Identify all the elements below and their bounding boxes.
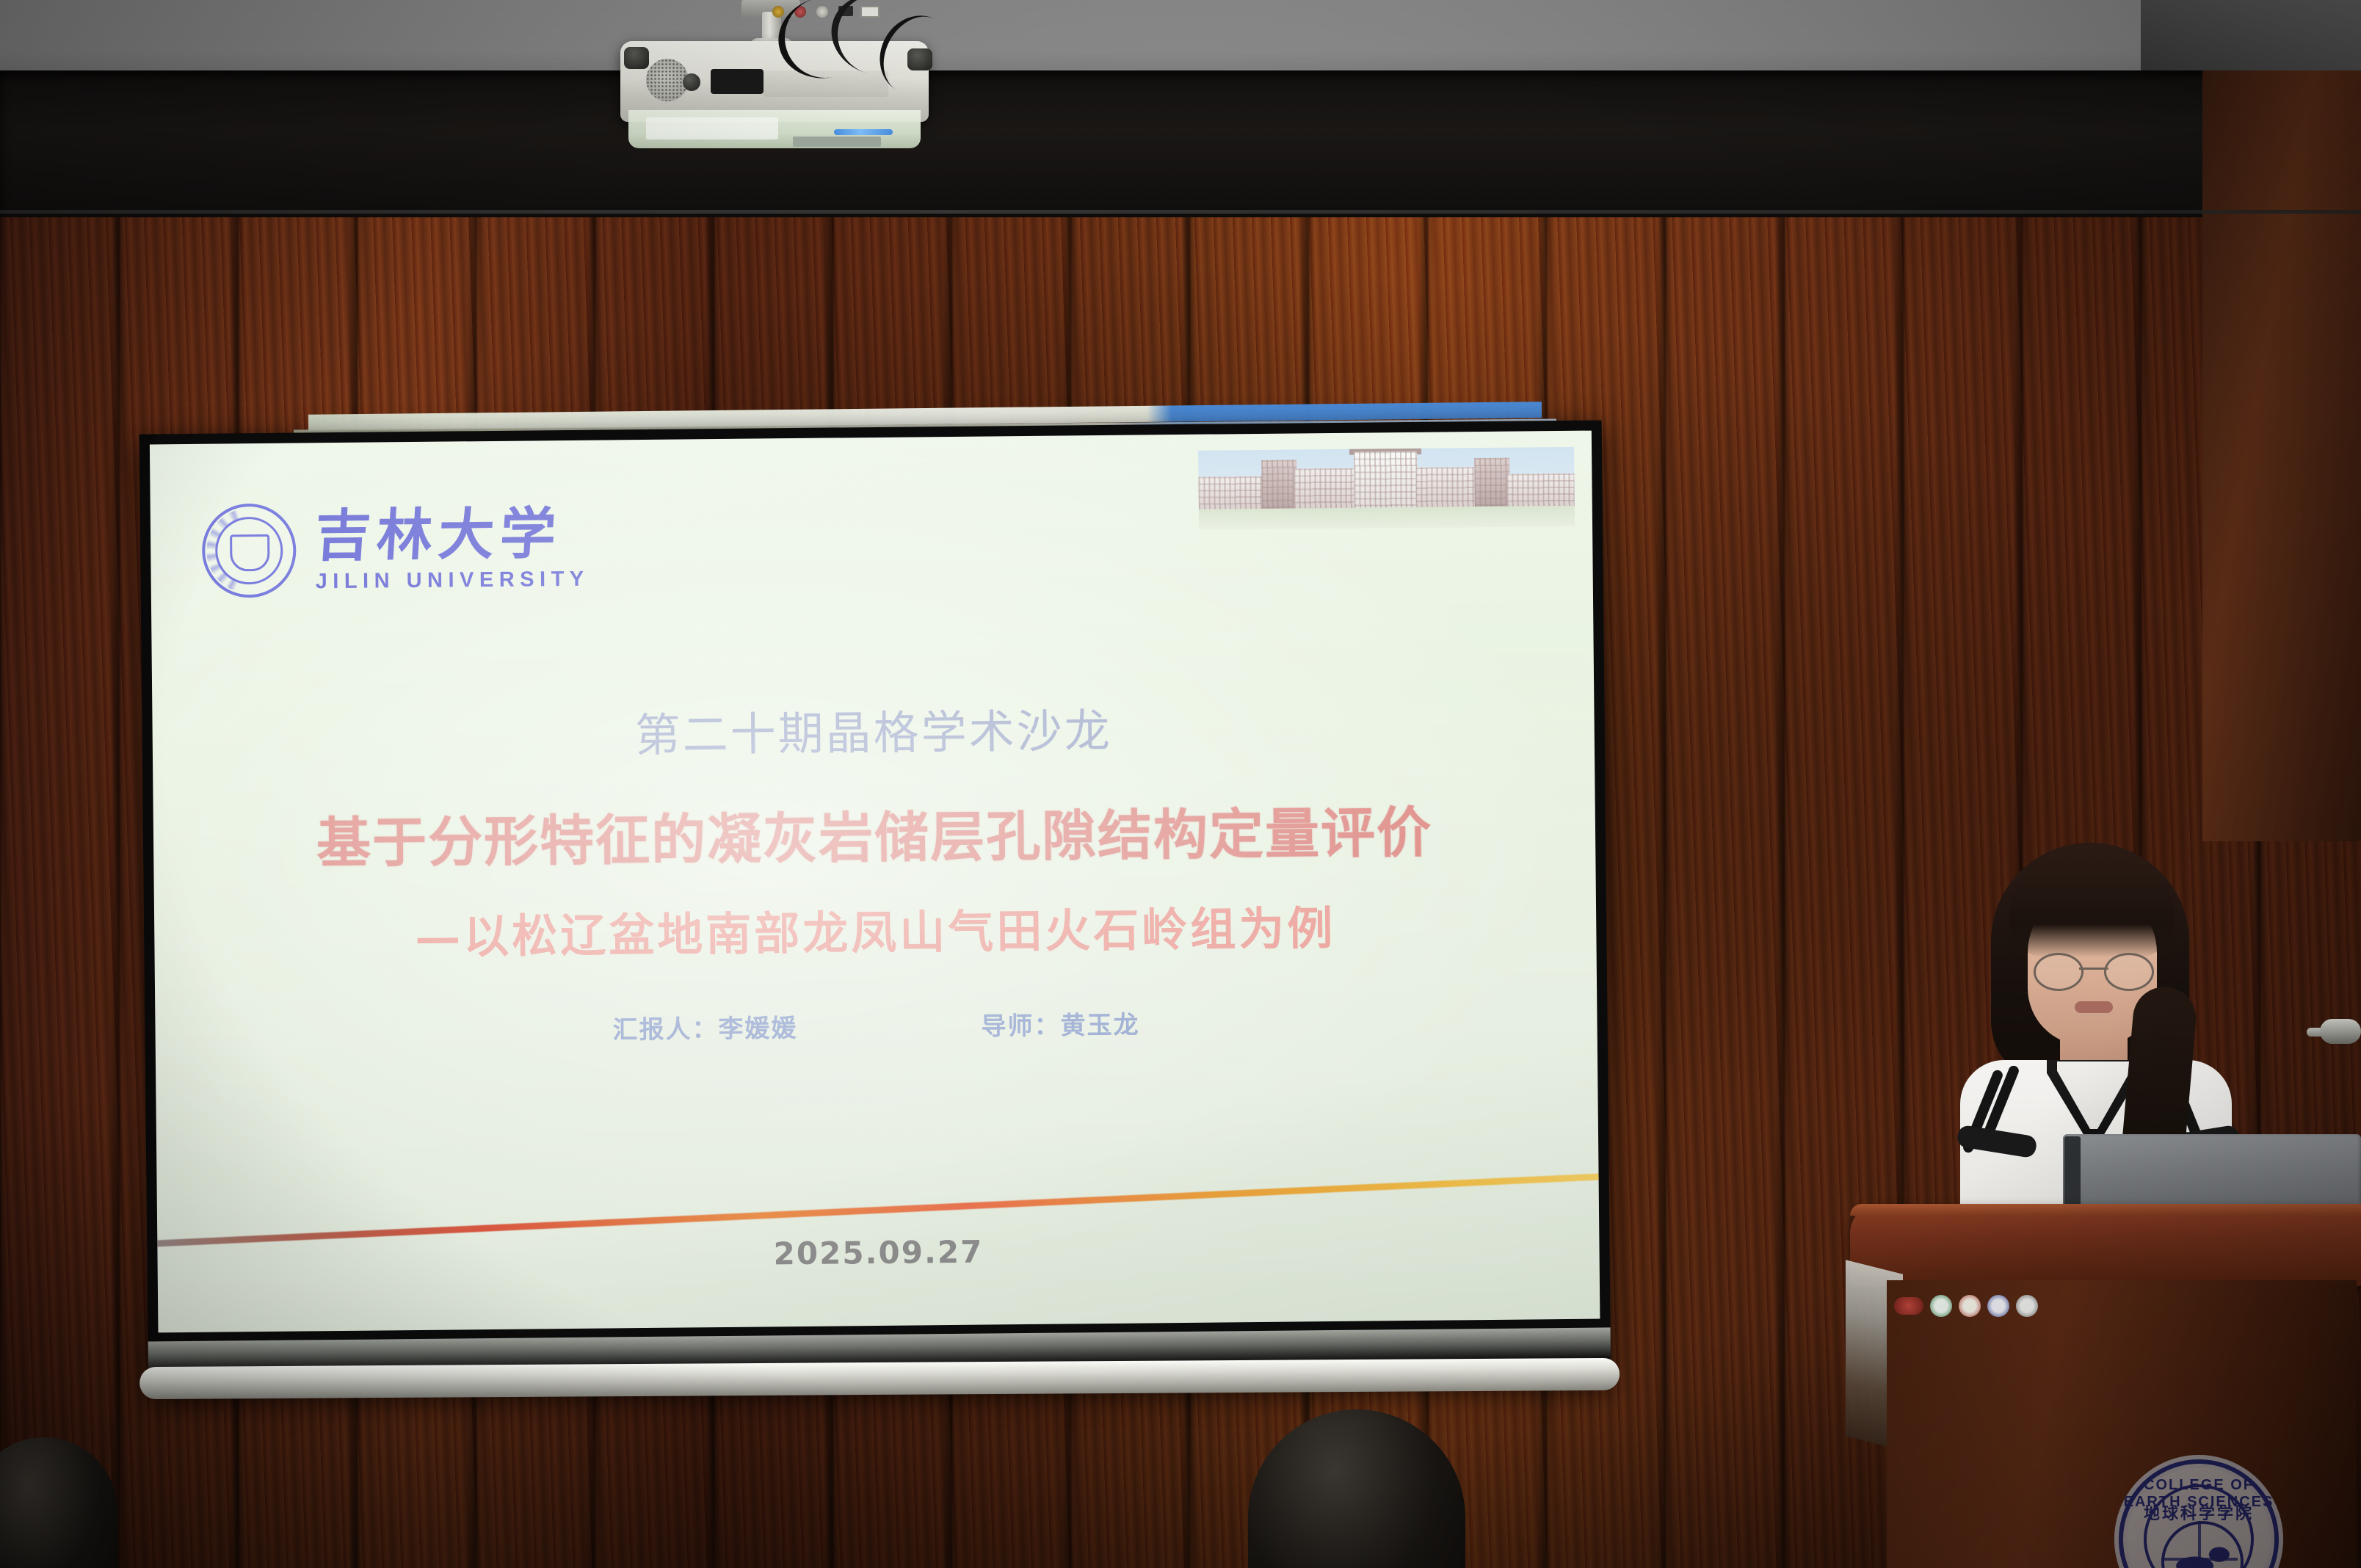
seal-ring-lettering [206,508,292,594]
projector-cable-connector [711,69,764,94]
slide-byline: 汇报人：李媛媛 导师：黄玉龙 [155,1001,1597,1050]
status-leds-icon [834,129,893,135]
sticker-green-icon [1930,1295,1952,1317]
campus-building-photo [1198,447,1575,530]
projector-vent [793,137,881,147]
projector-foot-left [624,47,649,69]
presenter-label: 汇报人：李媛媛 [612,1008,797,1045]
presenter-mouth [2075,1001,2113,1013]
lectern-top-edge [1850,1204,2361,1216]
presentation-slide: 吉林大学 JILIN UNIVERSITY 第二十期晶格学术沙龙 [150,431,1600,1333]
projector-knob[interactable] [683,73,700,91]
university-logo: 吉林大学 JILIN UNIVERSITY [202,501,590,598]
building-lawn [1199,506,1575,530]
dark-valance-beam [0,70,2361,217]
glasses-lens-left [2034,953,2083,991]
university-name-cn: 吉林大学 [313,505,591,564]
building-center-tower [1354,451,1418,509]
projection-screen[interactable]: 吉林大学 JILIN UNIVERSITY 第二十期晶格学术沙龙 [139,420,1611,1395]
rca-port-yellow [772,6,784,18]
valance-edge-trim [0,210,2361,214]
building-block-right [1415,467,1478,509]
glasses-icon [2034,953,2154,987]
college-seal-icon: COLLEGE OF EARTH SCIENCES 地球科学学院 [2114,1455,2283,1568]
jilin-university-seal-icon [202,504,297,598]
building-wing-far-left [1198,476,1266,511]
sticker-maroon-icon [1959,1295,1981,1317]
right-wall-strip [2202,70,2361,841]
sticker-blue-icon [1987,1295,2009,1317]
university-name-lockup: 吉林大学 JILIN UNIVERSITY [315,505,590,592]
university-name-en: JILIN UNIVERSITY [316,568,590,592]
lectern[interactable] [1850,1204,2361,1568]
lectern-top [1850,1204,2361,1286]
slide-main-title: 基于分形特征的凝灰岩储层孔隙结构定量评价 [153,788,1596,880]
building-tower-right [1474,458,1510,508]
slide-kicker: 第二十期晶格学术沙龙 [152,689,1595,769]
sticker-gray-icon [2016,1295,2038,1317]
screen-surface[interactable]: 吉林大学 JILIN UNIVERSITY 第二十期晶格学术沙龙 [150,431,1600,1333]
gooseneck-microphone[interactable] [2307,1019,2361,1048]
building-tower-left [1261,460,1297,509]
lectern-stickers [1894,1295,2038,1317]
advisor-label: 导师：黄玉龙 [981,1005,1139,1042]
building-wing-far-right [1506,473,1575,508]
slide-sub-title: —以松辽盆地南部龙凤山气田火石岭组为例 [154,889,1597,969]
building-block-left [1294,468,1356,510]
seal-shading [2114,1455,2283,1568]
glasses-lens-right [2104,953,2154,991]
projector-label-sticker [646,117,778,139]
microphone-head-icon [2320,1019,2361,1044]
sticker-red-icon [1894,1297,1923,1315]
lecture-hall-photo: 吉林大学 JILIN UNIVERSITY 第二十期晶格学术沙龙 [0,0,2361,1568]
